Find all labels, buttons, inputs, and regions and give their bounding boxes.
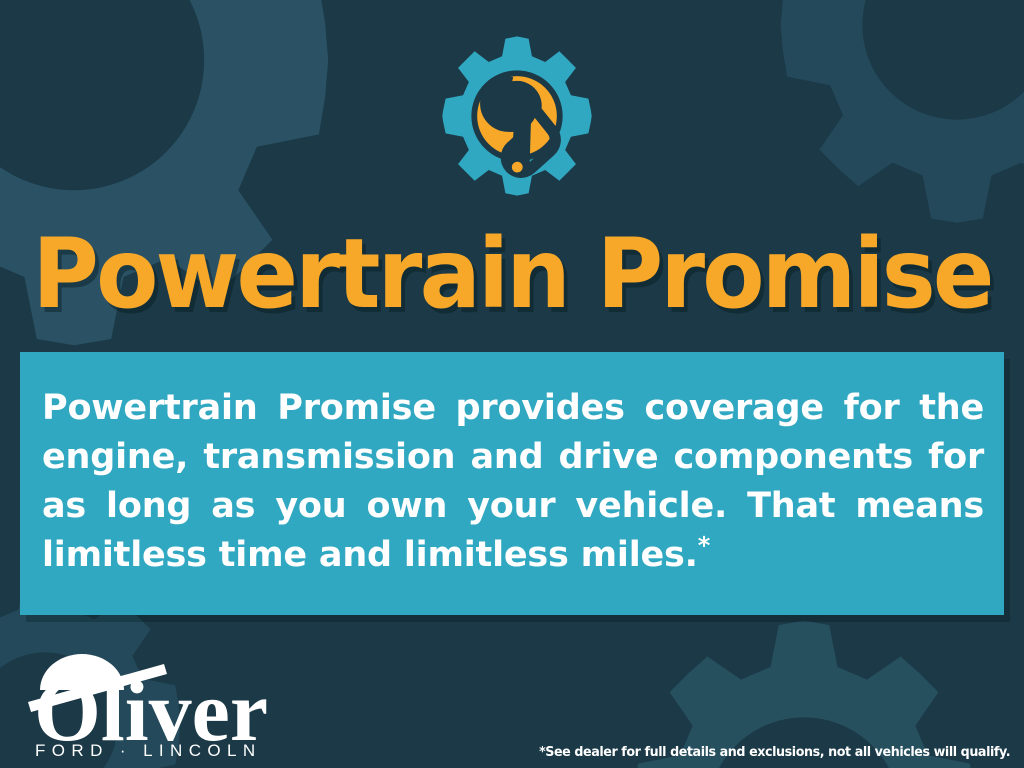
promotional-graphic: Powertrain Promise Powertrain Promise pr… (0, 0, 1024, 768)
page-title: Powertrain Promise (28, 222, 996, 326)
footnote-marker: * (698, 531, 710, 559)
promise-body-copy: Powertrain Promise provides coverage for… (42, 388, 984, 575)
promise-panel: Powertrain Promise provides coverage for… (20, 352, 1004, 615)
promise-body-text: Powertrain Promise provides coverage for… (42, 384, 984, 580)
background-gear-top-right (742, 0, 1024, 240)
disclaimer-text: *See dealer for full details and exclusi… (539, 744, 1010, 760)
gear-wrench-icon (434, 26, 600, 206)
dealer-logo: Oliver FORD · LINCOLN (26, 640, 326, 758)
logo-subtitle: FORD · LINCOLN (35, 741, 262, 758)
